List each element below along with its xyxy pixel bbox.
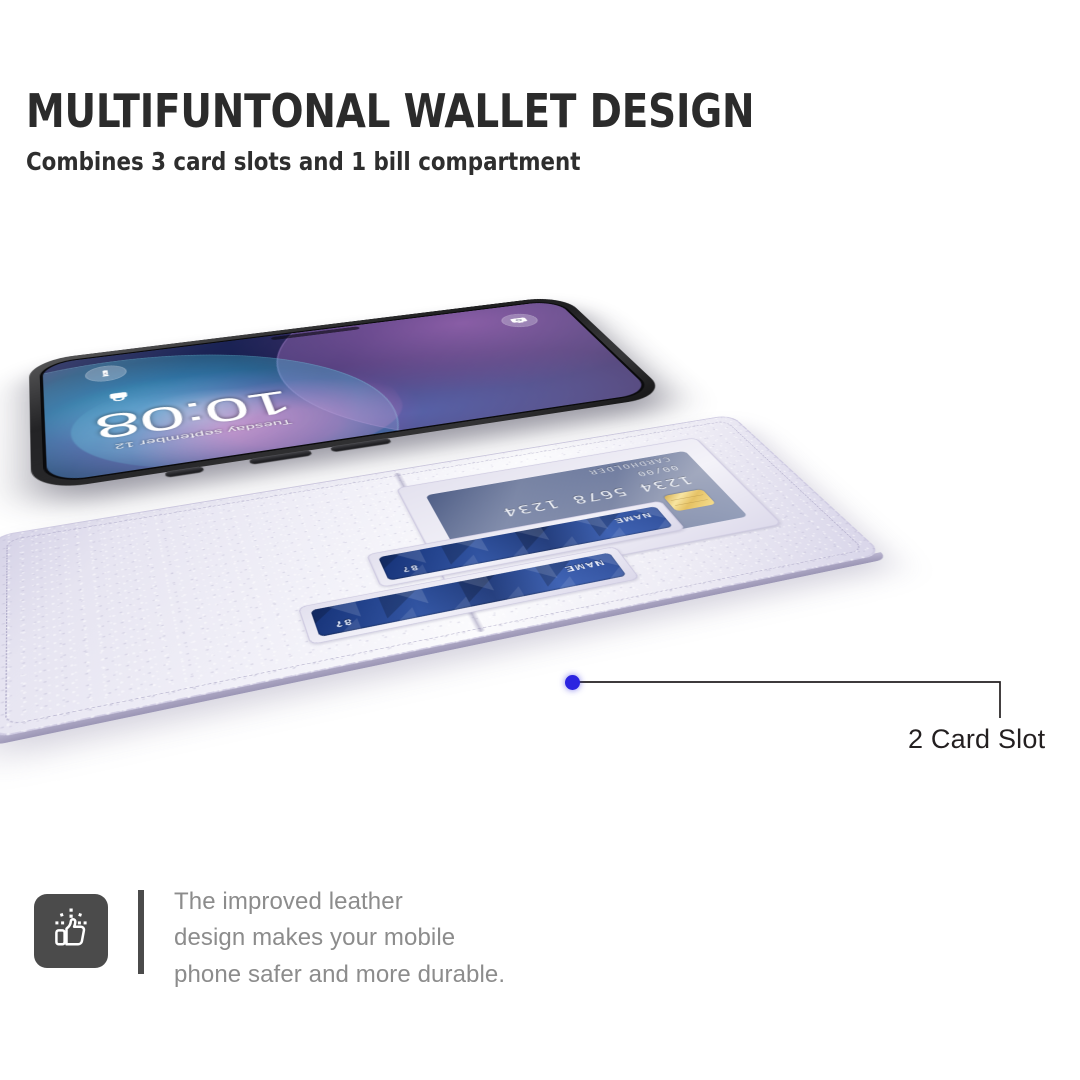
page-subtitle: Combines 3 card slots and 1 bill compart… [26,147,976,176]
camera-icon[interactable] [497,312,543,329]
smartphone: Tuesday september 12 10:08 [0,250,1080,880]
footer-divider [138,890,144,974]
product-hero-image: 1234 5678 1234 00/00 CARDHOLDER NAME 8? … [0,250,1080,880]
lock-screen-time: 10:08 [94,386,298,445]
page-title: MULTIFUNTONAL WALLET DESIGN [26,88,966,136]
lock-icon [100,391,129,404]
feature-footer: The improved leather design makes your m… [34,884,505,993]
flashlight-icon[interactable] [84,363,128,383]
thumbs-up-sparkle-icon [34,894,108,968]
header-block: MULTIFUNTONAL WALLET DESIGN Combines 3 c… [26,88,1026,176]
lock-screen: Tuesday september 12 10:08 [42,300,652,483]
phone-screen[interactable]: Tuesday september 12 10:08 [42,300,652,483]
feature-description: The improved leather design makes your m… [174,884,505,993]
